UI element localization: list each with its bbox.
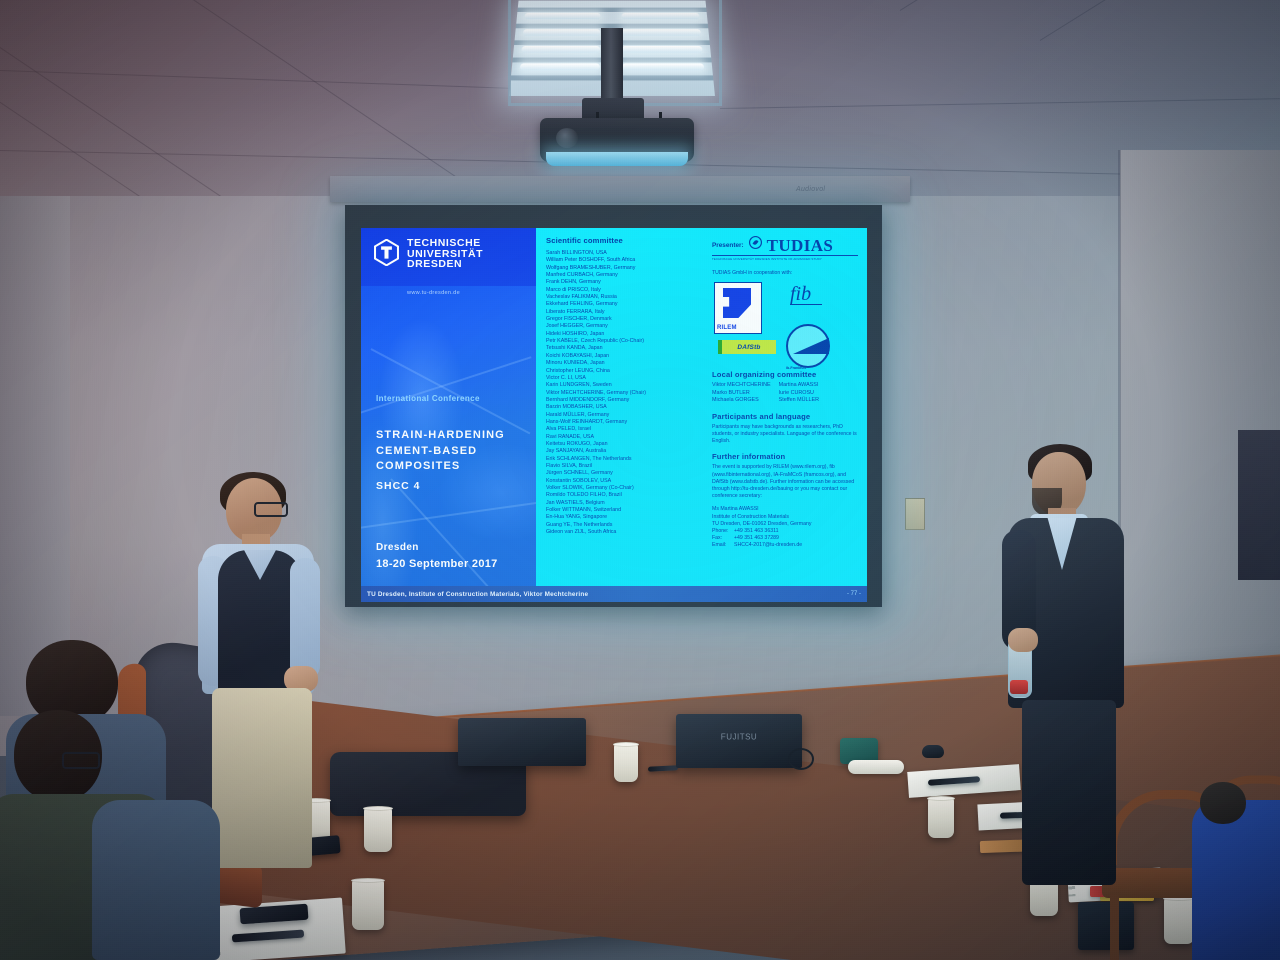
- slide-left-panel: TECHNISCHE UNIVERSITÄT DRESDEN www.tu-dr…: [361, 228, 536, 602]
- tu-dresden-wordmark: TECHNISCHE UNIVERSITÄT DRESDEN: [407, 238, 483, 270]
- committee-member: Minoru KUNIEDA, Japan: [546, 360, 706, 367]
- chair-leg-1a: [1110, 894, 1119, 960]
- slide-footer: TU Dresden, Institute of Construction Ma…: [361, 586, 867, 602]
- wall-brand-label: Audiovol: [796, 186, 825, 193]
- bottle-cap-icon: [1010, 680, 1028, 694]
- tudias-logo-icon: [749, 236, 762, 254]
- conference-title-line-1: STRAIN-HARDENING: [376, 428, 505, 444]
- tu-line-1: TECHNISCHE: [407, 238, 483, 249]
- committee-member: Ravi RANADE, USA: [546, 434, 706, 441]
- person-left-arm-near: [290, 558, 320, 680]
- slide-page-number: - 77 -: [847, 591, 861, 597]
- attendee-3-body: [92, 800, 220, 960]
- tudias-wordmark: TUDIAS: [767, 237, 834, 254]
- laptop-right[interactable]: FUJITSU: [676, 714, 802, 768]
- presentation-slide: TECHNISCHE UNIVERSITÄT DRESDEN www.tu-dr…: [361, 228, 867, 602]
- projector-lens-icon: [556, 128, 578, 148]
- presenter-standing-right: [1002, 452, 1142, 892]
- contact-fax-row: Fax: +49 351 463 37289: [712, 535, 858, 542]
- committee-member: Josef HEGGER, Germany: [546, 323, 706, 330]
- committee-member: Manfred CURBACH, Germany: [546, 272, 706, 279]
- committee-member: Harald MÜLLER, Germany: [546, 412, 706, 419]
- tudias-tagline: TECHNISCHE UNIVERSITÄT DRESDEN INSTITUTE…: [712, 255, 858, 261]
- person-right-hand: [1008, 628, 1038, 652]
- email-label: Email:: [712, 542, 734, 549]
- fax-value: +49 351 463 37289: [734, 535, 779, 542]
- committee-member: Jan WASTIELS, Belgium: [546, 500, 706, 507]
- eyeglasses-icon: [254, 502, 288, 517]
- left-wall: [0, 196, 70, 716]
- attendee-blue-head: [1200, 782, 1246, 824]
- committee-member: Romildo TOLEDO FILHO, Brazil: [546, 492, 706, 499]
- slide-right-panel: Scientific committee Sarah BILLINGTON, U…: [536, 228, 867, 602]
- email-value: SHCC4-2017@tu-dresden.de: [734, 542, 802, 549]
- fib-logo-icon: fib: [790, 284, 822, 306]
- committee-member: Volker SLOWIK, Germany (Co-Chair): [546, 485, 706, 492]
- local-committee-member: Martina AWASSI: [779, 382, 819, 390]
- rilem-logo-icon: RILEM: [714, 282, 762, 334]
- local-committee-member: Marko BUTLER: [712, 390, 771, 398]
- person-right-trousers: [1022, 700, 1116, 885]
- phone-value: +49 351 463 36311: [734, 528, 778, 535]
- seated-attendee-blue: [1192, 800, 1280, 960]
- local-committee-left: Viktor MECHTCHERINEMarko BUTLERMichaela …: [712, 382, 771, 405]
- committee-member: Tetsushi KANDA, Japan: [546, 345, 706, 352]
- committee-member: En-Hua YANG, Singapore: [546, 514, 706, 521]
- committee-member: Viktor MECHTCHERINE, Germany (Chair): [546, 390, 706, 397]
- committee-member: Victor C. LI, USA: [546, 375, 706, 382]
- committee-member: Bernhard MIDDENDORF, Germany: [546, 397, 706, 404]
- institute-circle-logo-icon: ib-Frankfurt: [786, 324, 830, 368]
- committee-member: Frank DEHN, Germany: [546, 279, 706, 286]
- cooperation-label: TUDIAS GmbH in cooperation with:: [712, 270, 858, 276]
- conference-short-title: SHCC 4: [376, 480, 421, 492]
- laptop-left[interactable]: [458, 718, 586, 766]
- presenter-row: Presenter: TUDIAS: [712, 236, 858, 254]
- computer-mouse[interactable]: [922, 745, 944, 758]
- committee-member: Erik SCHLANGEN, The Netherlands: [546, 456, 706, 463]
- committee-member: Koichi KOBAYASHI, Japan: [546, 353, 706, 360]
- contact-email-row: Email: SHCC4-2017@tu-dresden.de: [712, 542, 858, 549]
- committee-member: William Peter BOSHOFF, South Africa: [546, 257, 706, 264]
- paper-cup-7: [352, 880, 384, 930]
- conference-dates: 18-20 September 2017: [376, 558, 498, 570]
- committee-member: Konstantin SOBOLEV, USA: [546, 478, 706, 485]
- committee-member: Guang YE, The Netherlands: [546, 522, 706, 529]
- scientific-committee-heading: Scientific committee: [546, 236, 706, 245]
- participants-heading: Participants and language: [712, 412, 858, 421]
- tu-dresden-logo-icon: [373, 239, 400, 266]
- participants-text: Participants may have backgrounds as res…: [712, 424, 858, 446]
- local-committee-heading: Local organizing committee: [712, 370, 858, 379]
- wall-picture-frame: [1238, 430, 1280, 580]
- tu-dresden-url: www.tu-dresden.de: [407, 290, 460, 296]
- committee-member: Petr KABELE, Czech Republic (Co-Chair): [546, 338, 706, 345]
- local-committee-right: Martina AWASSIIurie CUROSUSteffen MÜLLER: [779, 382, 819, 405]
- further-information-text: The event is supported by RILEM (www.ril…: [712, 464, 858, 500]
- contact-phone-row: Phone: +49 351 463 36311: [712, 528, 858, 535]
- scientific-committee-block: Scientific committee Sarah BILLINGTON, U…: [546, 236, 706, 536]
- committee-member: Wolfgang BRAMESHUBER, Germany: [546, 265, 706, 272]
- conference-title-line-2: CEMENT-BASED: [376, 444, 505, 460]
- committee-member: Gregor FISCHER, Denmark: [546, 316, 706, 323]
- conference-room-photo: Audiovol TECHNISCHE UNIVERSITÄT DRESDEN: [0, 0, 1280, 960]
- committee-member: Barzin MOBASHER, USA: [546, 404, 706, 411]
- committee-member: Karin LUNDGREN, Sweden: [546, 382, 706, 389]
- local-committee-member: Steffen MÜLLER: [779, 397, 819, 405]
- phone-label: Phone:: [712, 528, 734, 535]
- committee-member: Alva PELED, Israel: [546, 426, 706, 433]
- committee-member: Christopher LEUNG, China: [546, 368, 706, 375]
- partner-logos: RILEM fib DAfStb ib-Frankfurt: [712, 280, 858, 368]
- paper-cup-6: [364, 808, 392, 852]
- contact-org-1: Institute of Construction Materials: [712, 514, 858, 521]
- local-committee-names: Viktor MECHTCHERINEMarko BUTLERMichaela …: [712, 382, 858, 405]
- paper-cup-1: [614, 744, 638, 782]
- committee-member: Ekkehard FEHLING, Germany: [546, 301, 706, 308]
- committee-member: Vacheslav FALIKMAN, Russia: [546, 294, 706, 301]
- conference-city: Dresden: [376, 542, 419, 553]
- conference-title: STRAIN-HARDENING CEMENT-BASED COMPOSITES: [376, 428, 505, 475]
- further-information-heading: Further information: [712, 452, 858, 461]
- slide-footer-text: TU Dresden, Institute of Construction Ma…: [367, 591, 588, 598]
- committee-member: Gideon van ZIJL, South Africa: [546, 529, 706, 536]
- committee-member: Jürgen SCHNELL, Germany: [546, 470, 706, 477]
- contact-org-2: TU Dresden, DE-01062 Dresden, Germany: [712, 521, 858, 528]
- projector-light-glow: [546, 152, 688, 166]
- committee-member: Liberato FERRARA, Italy: [546, 309, 706, 316]
- fax-label: Fax:: [712, 535, 734, 542]
- committee-member: Hideki HOSHIRO, Japan: [546, 331, 706, 338]
- committee-member: Hans-Wolf REINHARDT, Germany: [546, 419, 706, 426]
- contact-block: Ms Martina AWASSI Institute of Construct…: [712, 506, 858, 549]
- attendee-2-glasses-icon: [62, 752, 100, 769]
- committee-member: Sarah BILLINGTON, USA: [546, 250, 706, 257]
- conference-title-line-3: COMPOSITES: [376, 459, 505, 475]
- wall-switch-plate[interactable]: [905, 498, 925, 530]
- laptop-cable: [788, 748, 814, 770]
- committee-member: Folker WITTMANN, Switzerland: [546, 507, 706, 514]
- conference-label: International Conference: [376, 394, 480, 403]
- seated-attendee-3: [92, 790, 222, 960]
- presenter-label: Presenter:: [712, 242, 744, 249]
- person-left-trousers: [212, 688, 312, 868]
- tu-line-3: DRESDEN: [407, 259, 483, 270]
- local-committee-member: Viktor MECHTCHERINE: [712, 382, 771, 390]
- local-committee-member: Michaela GORGES: [712, 397, 771, 405]
- paper-cup-2: [928, 798, 954, 838]
- laptop-brand-logo: FUJITSU: [721, 732, 757, 741]
- committee-member: Marco di PRISCO, Italy: [546, 287, 706, 294]
- contact-name: Ms Martina AWASSI: [712, 506, 858, 513]
- committee-member: Flavio SILVA, Brazil: [546, 463, 706, 470]
- slide-right-column: Presenter: TUDIAS TECHNISCHE UNIVERSITÄT…: [712, 236, 858, 550]
- dafstb-logo-icon: DAfStb: [718, 340, 776, 354]
- scientific-committee-list: Sarah BILLINGTON, USAWilliam Peter BOSHO…: [546, 250, 706, 536]
- committee-member: Jay SANJAYAN, Australia: [546, 448, 706, 455]
- white-remote[interactable]: [848, 760, 904, 774]
- committee-member: Keitetsu ROKUGO, Japan: [546, 441, 706, 448]
